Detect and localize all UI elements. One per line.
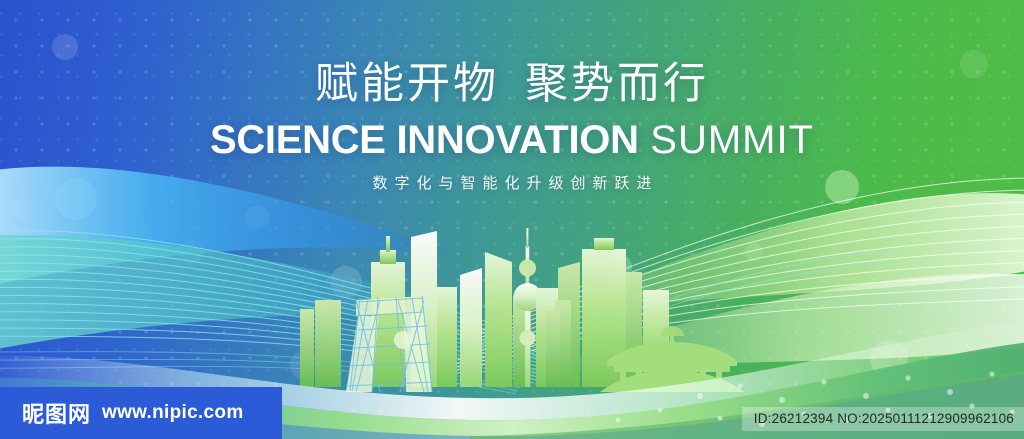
building-crown bbox=[594, 238, 614, 250]
building-wedge-tower bbox=[485, 252, 512, 387]
title-english-light: SUMMIT bbox=[650, 118, 814, 162]
building-block bbox=[315, 300, 341, 387]
building-block bbox=[300, 309, 314, 387]
title-english: SCIENCE INNOVATION SUMMIT bbox=[0, 120, 1024, 160]
building-crown bbox=[380, 250, 396, 264]
title-english-bold: SCIENCE INNOVATION bbox=[210, 118, 639, 162]
id-badge: ID:26212394 NO:20250111212909962106 bbox=[742, 407, 1024, 431]
headline-block: 赋能开物聚势而行 SCIENCE INNOVATION SUMMIT 数字化与智… bbox=[0, 0, 1024, 191]
building-angled-tower bbox=[460, 268, 482, 387]
building-block bbox=[437, 287, 457, 387]
title-chinese-part1: 赋能开物 bbox=[315, 60, 499, 108]
bubble-decoration bbox=[394, 331, 412, 349]
title-chinese-part2: 聚势而行 bbox=[525, 60, 709, 108]
watermark-url: www.nipic.com bbox=[102, 402, 244, 424]
title-chinese: 赋能开物聚势而行 bbox=[0, 63, 1024, 106]
subtitle-chinese: 数字化与智能化升级创新跃进 bbox=[0, 176, 1024, 191]
watermark: 昵图网 www.nipic.com bbox=[0, 387, 282, 439]
watermark-brand: 昵图网 bbox=[22, 397, 91, 429]
building-antenna bbox=[386, 236, 390, 252]
poster-canvas: 赋能开物聚势而行 SCIENCE INNOVATION SUMMIT 数字化与智… bbox=[0, 0, 1024, 439]
building-block bbox=[546, 310, 560, 387]
